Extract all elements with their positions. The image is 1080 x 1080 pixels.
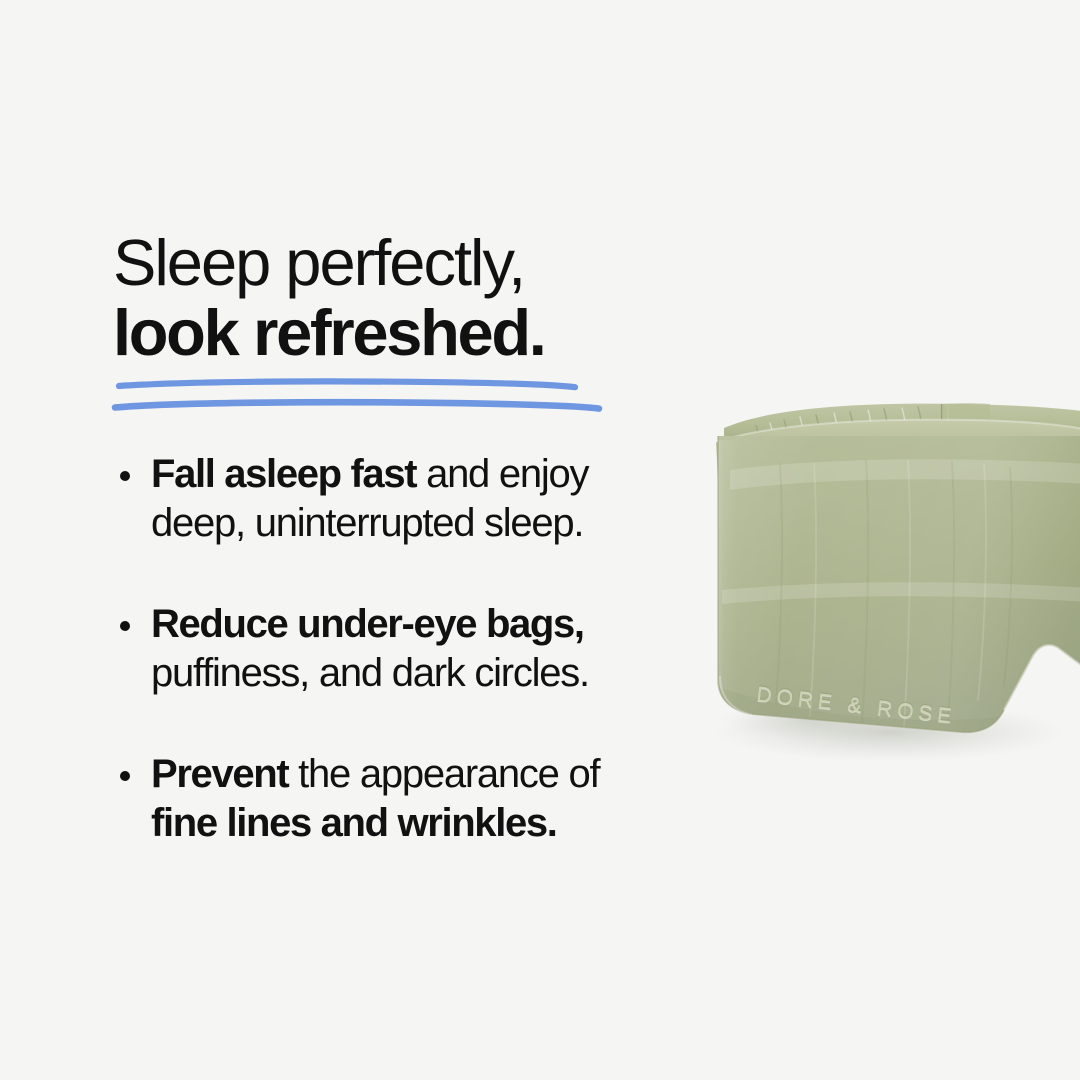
product-image-sleep-mask [660,380,1080,810]
benefits-list: Fall asleep fast and enjoy deep, uninter… [113,450,693,848]
bullet-dot-icon [120,471,130,481]
benefit-regular-text: the appearance of [288,752,599,796]
headline-line-2: look refreshed. [113,298,693,368]
blue-hand-drawn-underline [113,374,633,420]
benefit-line-1: Reduce under-eye bags, [151,600,693,649]
benefit-line-2: puffiness, and dark circles. [151,649,693,698]
benefit-line-1: Fall asleep fast and enjoy [151,450,693,499]
list-item: Prevent the appearance of fine lines and… [113,750,693,848]
bullet-dot-icon [120,621,130,631]
headline-line-1: Sleep perfectly, [113,226,524,299]
list-item: Reduce under-eye bags, puffiness, and da… [113,600,693,698]
benefit-regular-text: and enjoy [416,452,588,496]
bullet-dot-icon [120,771,130,781]
benefit-line-2: deep, uninterrupted sleep. [151,499,693,548]
text-column: Sleep perfectly,look refreshed. Fall asl… [113,228,693,368]
list-item: Fall asleep fast and enjoy deep, uninter… [113,450,693,548]
benefit-bold-text: fine lines and wrinkles. [151,801,557,845]
benefit-line-1: Prevent the appearance of [151,750,693,799]
page-title: Sleep perfectly,look refreshed. [113,228,693,368]
promo-card: Sleep perfectly,look refreshed. Fall asl… [0,0,1080,1080]
benefit-bold-text: Prevent [151,752,288,796]
benefit-line-2: fine lines and wrinkles. [151,799,693,848]
benefit-bold-text: Fall asleep fast [151,452,416,496]
benefit-bold-text: Reduce under-eye bags, [151,602,584,646]
